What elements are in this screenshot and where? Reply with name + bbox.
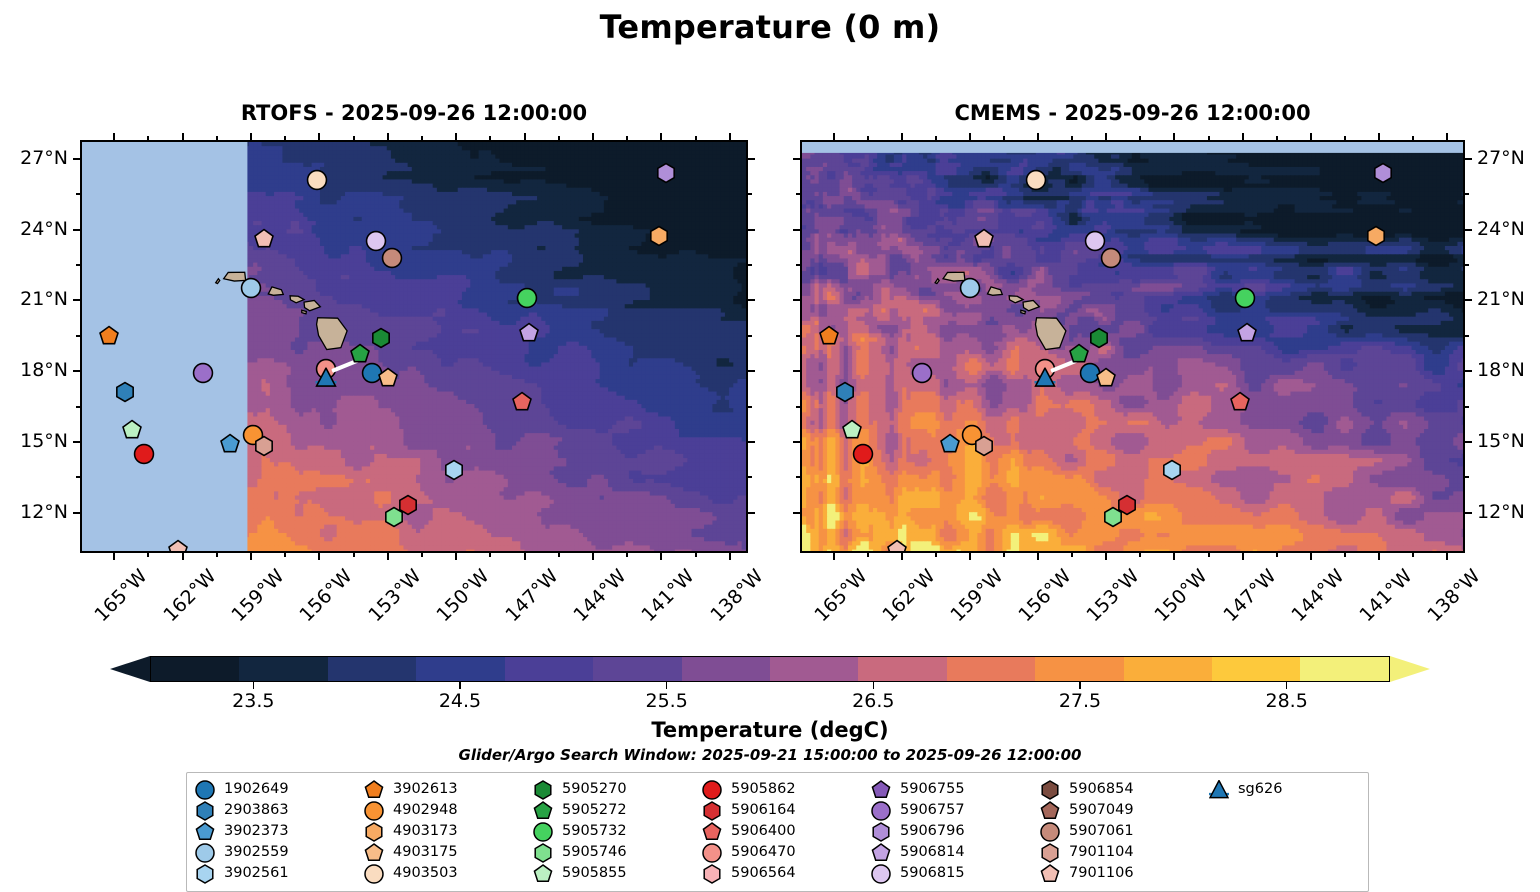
y-tick-major (73, 441, 80, 443)
map-marker-7901106b[interactable] (887, 540, 908, 553)
map-marker-5905855[interactable] (841, 419, 862, 440)
x-tick-minor (626, 136, 628, 140)
y-tick-minor (748, 406, 752, 408)
y-tick-major (1465, 370, 1472, 372)
x-tick-major (729, 553, 731, 560)
search-window-text: Glider/Argo Search Window: 2025-09-21 15… (0, 746, 1540, 764)
x-tick-major (1242, 133, 1244, 140)
x-tick-minor (353, 136, 355, 140)
x-tick-minor (1003, 136, 1005, 140)
y-tick-minor (1465, 406, 1469, 408)
pentagon-marker-icon (195, 822, 215, 842)
hexagon-marker-icon (533, 780, 553, 800)
y-tick-label-right: 15°N (1477, 430, 1540, 452)
legend-item-4903173[interactable]: 4903173 (364, 821, 533, 842)
colorbar-segment (682, 657, 770, 681)
x-tick-minor (216, 136, 218, 140)
map-marker-5905855[interactable] (122, 419, 143, 440)
y-tick-major (1465, 229, 1472, 231)
x-tick-minor (1071, 136, 1073, 140)
hexagon-marker-icon (702, 864, 722, 884)
legend-item-5906814[interactable]: 5906814 (871, 842, 1040, 863)
legend-item-5906796[interactable]: 5906796 (871, 821, 1040, 842)
hexagon-marker-icon (533, 843, 553, 863)
legend-item-label: sg626 (1238, 782, 1282, 797)
x-tick-label: 156°W (1015, 565, 1076, 626)
y-tick-major (1465, 158, 1472, 160)
y-tick-major (73, 370, 80, 372)
circle-marker-icon (702, 843, 722, 863)
y-tick-label-left: 24°N (0, 218, 68, 240)
map-marker-5906796[interactable] (1373, 162, 1394, 183)
legend-item-label: 4903175 (393, 845, 458, 860)
colorbar-segment (416, 657, 504, 681)
legend-item-7901104[interactable]: 7901104 (1040, 842, 1209, 863)
x-tick-major (113, 133, 115, 140)
legend-item-label: 4903503 (393, 866, 458, 881)
legend-item-5906815[interactable]: 5906815 (871, 863, 1040, 884)
colorbar-segment (505, 657, 593, 681)
x-tick-label: 138°W (706, 565, 767, 626)
x-tick-minor (1344, 553, 1346, 557)
x-tick-major (524, 553, 526, 560)
x-tick-major (182, 133, 184, 140)
colorbar-extend-high (1390, 656, 1430, 682)
map-marker-2903863[interactable] (835, 382, 856, 403)
x-tick-label: 144°W (1287, 565, 1348, 626)
legend-item-5906564[interactable]: 5906564 (702, 863, 871, 884)
legend-item-label: 7901104 (1069, 845, 1134, 860)
legend-item-label: 1902649 (224, 782, 289, 797)
x-tick-major (660, 553, 662, 560)
y-tick-minor (1465, 335, 1469, 337)
map-marker-3902561[interactable] (1161, 460, 1182, 481)
x-tick-major (182, 553, 184, 560)
colorbar-segment (947, 657, 1035, 681)
y-tick-minor (76, 476, 80, 478)
map-marker-5905862[interactable] (133, 443, 154, 464)
x-tick-minor (1276, 136, 1278, 140)
y-tick-major (748, 370, 755, 372)
map-marker-5905732[interactable] (1234, 287, 1255, 308)
y-tick-minor (1465, 193, 1469, 195)
rtofs-map-panel[interactable] (80, 140, 748, 553)
map-marker-4903175[interactable] (1096, 368, 1117, 389)
legend-item-label: 5905862 (731, 782, 796, 797)
y-tick-label-right: 18°N (1477, 359, 1540, 381)
x-tick-label: 153°W (1083, 565, 1144, 626)
y-tick-minor (76, 193, 80, 195)
y-tick-minor (796, 193, 800, 195)
legend-item-label: 5907049 (1069, 803, 1134, 818)
legend-item-5906757[interactable]: 5906757 (871, 800, 1040, 821)
map-marker-3902613[interactable] (99, 325, 120, 346)
legend-item-label: 3902559 (224, 845, 289, 860)
legend-grid: 1902649390261359052705905862590675559068… (195, 779, 1360, 884)
map-marker-4903173[interactable] (648, 226, 669, 247)
legend-item-label: 3902373 (224, 824, 289, 839)
x-tick-major (1446, 133, 1448, 140)
pentagon-marker-icon (1040, 864, 1060, 884)
legend-item-label: 5907061 (1069, 824, 1134, 839)
legend-item-5905272[interactable]: 5905272 (533, 800, 702, 821)
legend-item-5905862[interactable]: 5905862 (702, 779, 871, 800)
legend-item-3902613[interactable]: 3902613 (364, 779, 533, 800)
map-marker-3902561[interactable] (443, 460, 464, 481)
legend-item-label: 5905732 (562, 824, 627, 839)
legend-item-2903863[interactable]: 2903863 (195, 800, 364, 821)
x-tick-minor (1139, 136, 1141, 140)
legend-item-label: 7901106 (1069, 866, 1134, 881)
x-tick-label: 141°W (638, 565, 699, 626)
map-marker-7901106[interactable] (973, 228, 994, 249)
legend-item-label: 5906815 (900, 866, 965, 881)
colorbar-tick (253, 682, 255, 689)
y-tick-minor (748, 335, 752, 337)
y-tick-minor (76, 406, 80, 408)
colorbar-tick-label: 26.5 (828, 690, 918, 712)
pentagon-marker-icon (364, 843, 384, 863)
colorbar-tick-label: 24.5 (415, 690, 505, 712)
legend-item-4903175[interactable]: 4903175 (364, 842, 533, 863)
colorbar-gradient (150, 656, 1390, 682)
x-tick-label: 150°W (433, 565, 494, 626)
x-tick-major (250, 553, 252, 560)
map-marker-3902613[interactable] (819, 325, 840, 346)
legend-item-3902561[interactable]: 3902561 (195, 863, 364, 884)
legend-item-5906400[interactable]: 5906400 (702, 821, 871, 842)
legend-item-5905732[interactable]: 5905732 (533, 821, 702, 842)
legend-item-label: 5906400 (731, 824, 796, 839)
hexagon-marker-icon (871, 822, 891, 842)
map-marker-5906757[interactable] (912, 363, 933, 384)
y-tick-minor (796, 476, 800, 478)
y-tick-major (73, 299, 80, 301)
map-marker-5907061[interactable] (1100, 247, 1121, 268)
pentagon-marker-icon (871, 780, 891, 800)
x-tick-label: 159°W (227, 565, 288, 626)
x-tick-label: 147°W (501, 565, 562, 626)
x-tick-major (1037, 133, 1039, 140)
x-tick-major (1105, 553, 1107, 560)
circle-marker-icon (195, 843, 215, 863)
x-tick-major (1378, 553, 1380, 560)
map-marker-sg626[interactable] (315, 368, 336, 389)
colorbar-tick (459, 682, 461, 689)
map-marker-5906400[interactable] (512, 391, 533, 412)
y-tick-major (73, 229, 80, 231)
legend-item-1902649[interactable]: 1902649 (195, 779, 364, 800)
legend-item-label: 5906164 (731, 803, 796, 818)
y-tick-minor (1465, 476, 1469, 478)
map-marker-4903503[interactable] (1025, 169, 1046, 190)
map-marker-7901106b[interactable] (167, 540, 188, 553)
map-marker-7901104[interactable] (254, 436, 275, 457)
colorbar-segment (1124, 657, 1212, 681)
x-tick-major (318, 133, 320, 140)
legend-item-5907049[interactable]: 5907049 (1040, 800, 1209, 821)
x-tick-major (113, 553, 115, 560)
map-marker-5905272[interactable] (1068, 344, 1089, 365)
map-marker-5906814[interactable] (1236, 323, 1257, 344)
x-tick-major (901, 133, 903, 140)
legend-item-5907061[interactable]: 5907061 (1040, 821, 1209, 842)
x-tick-major (387, 133, 389, 140)
colorbar-tick (1286, 682, 1288, 689)
hexagon-marker-icon (364, 822, 384, 842)
x-tick-minor (558, 136, 560, 140)
legend-item-label: 4902948 (393, 803, 458, 818)
legend-item-sg626[interactable]: sg626 (1209, 779, 1378, 800)
x-tick-label: 147°W (1219, 565, 1280, 626)
x-tick-label: 150°W (1151, 565, 1212, 626)
x-tick-major (1173, 553, 1175, 560)
legend-item-3902373[interactable]: 3902373 (195, 821, 364, 842)
x-tick-label: 162°W (878, 565, 939, 626)
colorbar-segment (1300, 657, 1388, 681)
x-tick-major (524, 133, 526, 140)
x-tick-major (833, 133, 835, 140)
legend-item-4902948[interactable]: 4902948 (364, 800, 533, 821)
x-tick-major (729, 133, 731, 140)
circle-marker-icon (195, 780, 215, 800)
colorbar-segment (593, 657, 681, 681)
colorbar-segment (858, 657, 946, 681)
x-tick-major (833, 553, 835, 560)
x-tick-minor (489, 136, 491, 140)
y-tick-major (1465, 299, 1472, 301)
legend-item-label: 5906814 (900, 845, 965, 860)
map-marker-4903173[interactable] (1366, 226, 1387, 247)
colorbar-tick (666, 682, 668, 689)
legend-item-label: 5905746 (562, 845, 627, 860)
map-marker-4903503[interactable] (306, 169, 327, 190)
cmems-map-panel[interactable] (800, 140, 1465, 553)
x-tick-major (1310, 553, 1312, 560)
x-tick-major (901, 553, 903, 560)
y-tick-major (793, 441, 800, 443)
x-tick-major (250, 133, 252, 140)
x-tick-minor (1003, 553, 1005, 557)
legend-item-5905270[interactable]: 5905270 (533, 779, 702, 800)
x-tick-label: 153°W (364, 565, 425, 626)
map-marker-5905862[interactable] (853, 443, 874, 464)
y-tick-label-left: 12°N (0, 501, 68, 523)
y-tick-major (748, 229, 755, 231)
legend-item-label: 5905855 (562, 866, 627, 881)
x-tick-major (1446, 553, 1448, 560)
x-tick-minor (626, 553, 628, 557)
colorbar-segment (1035, 657, 1123, 681)
x-tick-minor (216, 553, 218, 557)
map-marker-3902373[interactable] (220, 434, 241, 455)
x-tick-label: 141°W (1355, 565, 1416, 626)
circle-marker-icon (702, 780, 722, 800)
circle-marker-icon (1040, 822, 1060, 842)
map-marker-7901106[interactable] (254, 228, 275, 249)
legend-item-label: 3902613 (393, 782, 458, 797)
x-tick-major (1173, 133, 1175, 140)
x-tick-major (1242, 553, 1244, 560)
y-tick-major (748, 512, 755, 514)
pentagon-marker-icon (871, 843, 891, 863)
map-marker-5905732[interactable] (516, 287, 537, 308)
x-tick-label: 165°W (810, 565, 871, 626)
legend-item-3902559[interactable]: 3902559 (195, 842, 364, 863)
x-tick-minor (353, 553, 355, 557)
legend-item-4903503[interactable]: 4903503 (364, 863, 533, 884)
marker-legend[interactable]: 1902649390261359052705905862590675559068… (186, 772, 1369, 892)
legend-item-label: 5906757 (900, 803, 965, 818)
y-tick-minor (748, 476, 752, 478)
map-marker-7901104[interactable] (973, 436, 994, 457)
map-marker-5906796[interactable] (655, 162, 676, 183)
x-tick-major (1105, 133, 1107, 140)
hexagon-marker-icon (1040, 843, 1060, 863)
legend-item-label: 5906796 (900, 824, 965, 839)
legend-item-5905855[interactable]: 5905855 (533, 863, 702, 884)
x-tick-minor (1208, 553, 1210, 557)
y-tick-major (73, 512, 80, 514)
x-tick-major (318, 553, 320, 560)
legend-item-label: 5905272 (562, 803, 627, 818)
y-tick-label-right: 24°N (1477, 218, 1540, 240)
map-marker-2903863[interactable] (115, 382, 136, 403)
x-tick-minor (935, 136, 937, 140)
legend-item-label: 4903173 (393, 824, 458, 839)
legend-item-5906854[interactable]: 5906854 (1040, 779, 1209, 800)
x-tick-major (455, 553, 457, 560)
x-tick-label: 162°W (159, 565, 220, 626)
map-marker-5906400[interactable] (1230, 391, 1251, 412)
y-tick-major (1465, 512, 1472, 514)
map-marker-5905272[interactable] (350, 344, 371, 365)
x-tick-major (1378, 133, 1380, 140)
legend-item-label: 5906755 (900, 782, 965, 797)
rtofs-panel-title: RTOFS - 2025-09-26 12:00:00 (80, 101, 748, 125)
y-tick-minor (1465, 264, 1469, 266)
hexagon-marker-icon (1040, 780, 1060, 800)
y-tick-major (793, 370, 800, 372)
y-tick-label-right: 21°N (1477, 288, 1540, 310)
legend-item-7901106[interactable]: 7901106 (1040, 863, 1209, 884)
map-marker-3902373[interactable] (939, 434, 960, 455)
x-tick-minor (489, 553, 491, 557)
y-tick-major (1465, 441, 1472, 443)
colorbar-segment (770, 657, 858, 681)
y-tick-major (793, 299, 800, 301)
pentagon-marker-icon (533, 864, 553, 884)
legend-item-label: 5906470 (731, 845, 796, 860)
pentagon-marker-icon (1040, 801, 1060, 821)
x-tick-minor (1208, 136, 1210, 140)
y-tick-label-left: 18°N (0, 359, 68, 381)
y-tick-label-right: 12°N (1477, 501, 1540, 523)
x-tick-minor (867, 136, 869, 140)
hexagon-marker-icon (702, 801, 722, 821)
x-tick-minor (1276, 553, 1278, 557)
x-tick-minor (1412, 136, 1414, 140)
glider-marker-icon (1209, 780, 1229, 800)
y-tick-label-left: 15°N (0, 430, 68, 452)
x-tick-major (592, 133, 594, 140)
x-tick-major (1310, 133, 1312, 140)
circle-marker-icon (533, 822, 553, 842)
y-tick-minor (796, 335, 800, 337)
map-marker-5905746[interactable] (1102, 507, 1123, 528)
legend-item-label: 3902561 (224, 866, 289, 881)
y-tick-minor (76, 264, 80, 266)
x-tick-major (455, 133, 457, 140)
colorbar-axis-label: Temperature (degC) (0, 718, 1540, 742)
x-tick-minor (147, 136, 149, 140)
x-tick-minor (1139, 553, 1141, 557)
x-tick-minor (1344, 136, 1346, 140)
colorbar[interactable]: 23.524.525.526.527.528.5 (0, 656, 1540, 696)
hexagon-marker-icon (195, 864, 215, 884)
legend-item-5905746[interactable]: 5905746 (533, 842, 702, 863)
y-tick-minor (748, 264, 752, 266)
y-tick-major (748, 299, 755, 301)
x-tick-label: 156°W (296, 565, 357, 626)
map-marker-5906814[interactable] (518, 323, 539, 344)
pentagon-marker-icon (702, 822, 722, 842)
y-tick-minor (796, 406, 800, 408)
map-marker-sg626[interactable] (1034, 368, 1055, 389)
hexagon-marker-icon (195, 801, 215, 821)
y-tick-label-left: 27°N (0, 147, 68, 169)
legend-item-label: 5905270 (562, 782, 627, 797)
x-tick-minor (558, 553, 560, 557)
colorbar-extend-low (110, 656, 150, 682)
map-marker-5906757[interactable] (192, 363, 213, 384)
legend-item-5906164[interactable]: 5906164 (702, 800, 871, 821)
x-tick-major (592, 553, 594, 560)
colorbar-segment (151, 657, 239, 681)
y-tick-major (748, 441, 755, 443)
x-tick-major (660, 133, 662, 140)
y-tick-minor (76, 335, 80, 337)
cmems-temperature-field (802, 142, 1463, 551)
colorbar-segment (239, 657, 327, 681)
map-marker-3902559[interactable] (959, 278, 980, 299)
y-tick-label-right: 27°N (1477, 147, 1540, 169)
map-marker-5905270[interactable] (370, 327, 391, 348)
legend-item-label: 5906564 (731, 866, 796, 881)
pentagon-marker-icon (533, 801, 553, 821)
legend-item-5906470[interactable]: 5906470 (702, 842, 871, 863)
map-marker-5905270[interactable] (1089, 327, 1110, 348)
x-tick-major (969, 133, 971, 140)
legend-item-label: 2903863 (224, 803, 289, 818)
legend-item-label: 5906854 (1069, 782, 1134, 797)
circle-marker-icon (871, 864, 891, 884)
legend-item-5906755[interactable]: 5906755 (871, 779, 1040, 800)
x-tick-label: 144°W (569, 565, 630, 626)
x-tick-label: 138°W (1423, 565, 1484, 626)
x-tick-minor (284, 553, 286, 557)
map-marker-5907061[interactable] (382, 247, 403, 268)
map-marker-4903175[interactable] (377, 368, 398, 389)
map-marker-5905746[interactable] (384, 507, 405, 528)
x-tick-minor (421, 136, 423, 140)
map-marker-3902559[interactable] (240, 278, 261, 299)
x-tick-major (1037, 553, 1039, 560)
x-tick-minor (421, 553, 423, 557)
x-tick-label: 165°W (91, 565, 152, 626)
y-tick-minor (796, 264, 800, 266)
circle-marker-icon (871, 801, 891, 821)
